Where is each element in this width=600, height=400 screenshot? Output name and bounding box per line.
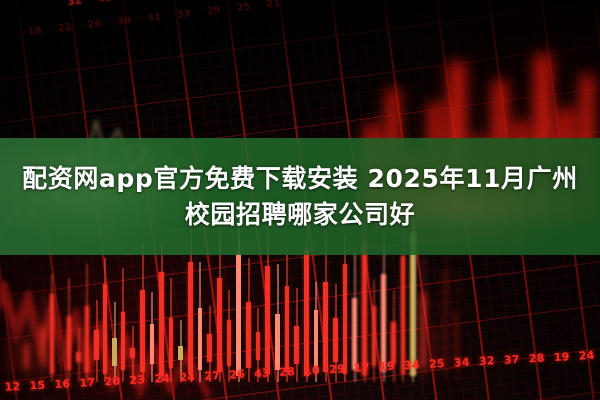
candle (103, 258, 107, 382)
candle (94, 300, 99, 382)
candle-body (159, 272, 164, 376)
candle (169, 278, 173, 382)
candle (227, 290, 231, 382)
candle-body (381, 274, 386, 372)
candle-body (169, 318, 173, 368)
candle (294, 288, 299, 382)
candle (16, 296, 20, 382)
candle-body (76, 352, 81, 362)
candle-body (50, 294, 54, 374)
candle-body (343, 264, 347, 374)
candle (314, 282, 318, 382)
candle-body (246, 302, 251, 368)
candle-body (314, 310, 318, 368)
candle-body (256, 332, 260, 360)
candle (256, 308, 260, 382)
candle (372, 280, 376, 382)
candle-body (67, 316, 71, 370)
candle-body (362, 242, 367, 376)
candle-body (198, 308, 202, 370)
candle (41, 294, 46, 382)
candle-body (188, 262, 193, 374)
candle-body (443, 270, 448, 372)
candle-body (285, 286, 289, 372)
candle (33, 292, 37, 382)
candle-body (304, 250, 309, 376)
candle-body (454, 312, 459, 366)
candle (8, 314, 12, 382)
candle-body (112, 338, 117, 366)
candle (343, 234, 347, 382)
candle-body (121, 312, 125, 370)
candle-body (178, 346, 183, 360)
candle-body (16, 322, 20, 370)
candle (50, 274, 54, 382)
candle-body (140, 290, 145, 372)
headline-line-1: 配资网app官方免费下载安装 2025年11月广州 (22, 161, 578, 197)
candle-body (94, 330, 99, 360)
candle (391, 290, 396, 382)
candle (112, 302, 117, 382)
candle-body (85, 306, 89, 372)
candle (198, 262, 202, 382)
candle-body (275, 314, 280, 370)
candle (323, 234, 328, 382)
candle-body (8, 336, 12, 372)
candle (285, 254, 289, 382)
candle (76, 328, 81, 382)
candle (178, 320, 183, 382)
candle-body (265, 266, 270, 374)
candle-body (323, 282, 328, 372)
candle-body (41, 328, 46, 366)
candle-body (294, 326, 299, 364)
candle (130, 326, 135, 382)
candle (58, 314, 63, 382)
candle (275, 264, 280, 382)
candle (85, 264, 89, 382)
candle-body (33, 310, 37, 373)
candle (352, 252, 357, 382)
candle-body (58, 342, 63, 364)
candle-body (333, 318, 338, 362)
candle (207, 306, 212, 382)
candle-body (391, 322, 396, 364)
candle (150, 292, 154, 382)
candle-body (401, 256, 405, 374)
candle-body (421, 294, 426, 368)
candle-body (130, 348, 135, 358)
candle-body (103, 284, 107, 374)
candle-body (24, 344, 29, 368)
candle-body (207, 334, 212, 362)
headline-banner: 配资网app官方免费下载安装 2025年11月广州 校园招聘哪家公司好 (0, 138, 600, 255)
candle-body (227, 320, 231, 366)
candle (421, 256, 426, 382)
candle-body (372, 306, 376, 366)
candle (67, 278, 71, 382)
candle-body (217, 278, 222, 372)
candle-body (352, 298, 357, 370)
candle (24, 314, 29, 382)
candle (246, 258, 251, 382)
candle (121, 268, 125, 382)
screenshot-root: 182226303133292521 324036383837392742 12… (0, 0, 600, 400)
candle (333, 284, 338, 382)
candle (432, 300, 437, 382)
candle (159, 242, 164, 382)
candle (140, 242, 145, 382)
headline-line-2: 校园招聘哪家公司好 (185, 197, 415, 233)
candle (454, 270, 459, 382)
candle-body (432, 328, 437, 362)
candle-body (236, 254, 241, 376)
candle-body (150, 324, 154, 364)
candle (443, 236, 448, 382)
